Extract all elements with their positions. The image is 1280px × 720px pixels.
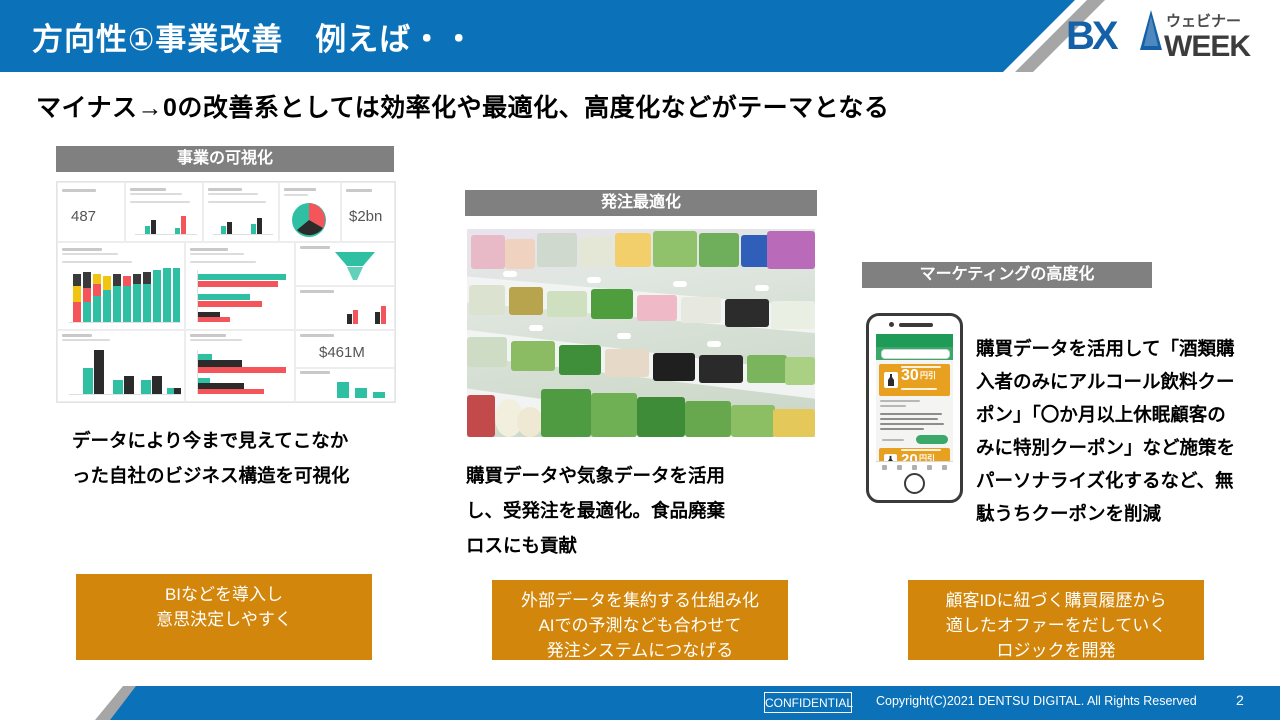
- action-box-marketing: 顧客IDに紐づく購買履歴から 適したオファーをだしていく ロジックを開発: [908, 580, 1204, 660]
- phone-screen: 30 円引 20 円引: [876, 334, 953, 473]
- section-band-visualization: 事業の可視化: [56, 146, 394, 172]
- phone-speaker: [899, 323, 933, 327]
- coupon-use-button[interactable]: [916, 435, 948, 444]
- coupon-1-unit: 円引: [920, 372, 936, 380]
- copyright-text: Copyright(C)2021 DENTSU DIGITAL. All Rig…: [876, 694, 1197, 708]
- action-box-ordering: 外部データを集約する仕組み化 AIでの予測なども合わせて 発注システムにつなげる: [492, 580, 788, 660]
- slide: 方向性①事業改善 例えば・・ BX ウェビナー WEEK マイナス→0の改善系と…: [0, 0, 1280, 720]
- dashboard-kpi-2: $2bn: [349, 208, 382, 225]
- confidential-badge: CONFIDENTIAL: [764, 692, 852, 713]
- bx-webinar-week-logo: BX ウェビナー WEEK: [1066, 8, 1266, 66]
- phone-camera-icon: [889, 322, 894, 327]
- coupon-bottle-icon: [884, 372, 898, 388]
- bi-dashboard-image: 487 $2bn: [56, 181, 396, 403]
- action-box-visualization: BIなどを導入し 意思決定しやすく: [76, 574, 372, 660]
- dashboard-kpi-3: $461M: [319, 344, 365, 361]
- column-3-body: 購買データを活用して「酒類購 入者のみにアルコール飲料クー ポン」「〇か月以上休…: [976, 332, 1276, 530]
- column-1-body: データにより今まで見えてこなか った自社のビジネス構造を可視化: [72, 423, 412, 493]
- subtitle: マイナス→0の改善系としては効率化や最適化、高度化などがテーマとなる: [36, 88, 889, 124]
- logo-week-text: WEEK: [1164, 32, 1250, 62]
- column-2-body: 購買データや気象データを活用 し、受発注を最適化。食品廃棄 ロスにも貢献: [466, 458, 816, 563]
- coupon-1-amount: 30: [901, 368, 919, 384]
- section-band-marketing: マーケティングの高度化: [862, 262, 1152, 288]
- dashboard-funnel-chart: [335, 252, 375, 282]
- logo-bx-mark: BX: [1066, 16, 1116, 56]
- logo-arrow-icon: [1138, 10, 1164, 52]
- dashboard-kpi-1: 487: [71, 208, 96, 225]
- smartphone-coupon-app: 30 円引 20 円引: [866, 313, 963, 503]
- logo-webinar-text: ウェビナー: [1166, 14, 1241, 29]
- coupon-card-1[interactable]: 30 円引: [879, 364, 950, 396]
- page-title: 方向性①事業改善 例えば・・: [32, 14, 475, 59]
- app-bottom-nav[interactable]: [876, 461, 953, 473]
- phone-home-button[interactable]: [904, 473, 925, 494]
- app-search-input[interactable]: [881, 349, 950, 359]
- page-number: 2: [1236, 692, 1244, 708]
- dashboard-pie-chart: [291, 202, 327, 238]
- section-band-ordering: 発注最適化: [465, 190, 817, 216]
- supermarket-produce-photo: [467, 229, 815, 437]
- app-top-bar: [876, 334, 953, 347]
